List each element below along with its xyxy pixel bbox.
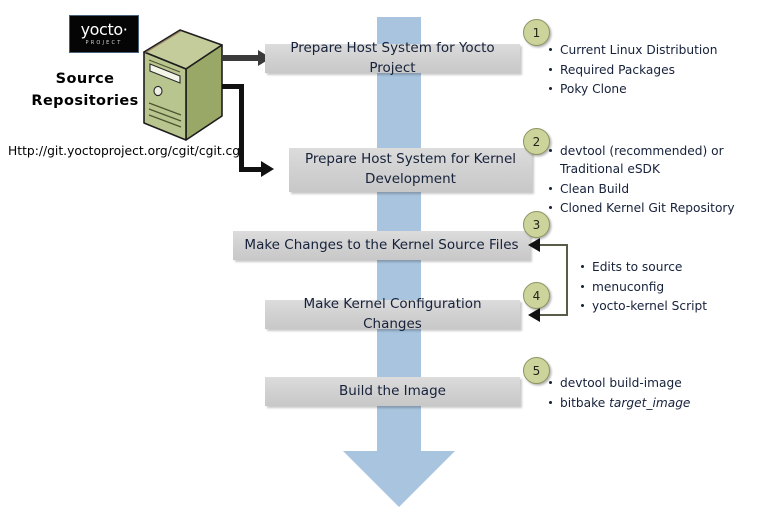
step-box-1[interactable]: Prepare Host System for Yocto Project: [265, 44, 520, 73]
steps-3-4-shared-notes: Edits to source menuconfig yocto-kernel …: [580, 258, 760, 317]
step-number-5-value: 5: [533, 364, 541, 378]
step-number-4-value: 4: [533, 289, 541, 303]
step-box-1-label: Prepare Host System for Yocto Project: [275, 39, 510, 78]
yocto-project-logo: yocto· PROJECT: [69, 15, 139, 53]
arrowhead-loopback-step4: [528, 308, 540, 322]
list-item: yocto-kernel Script: [580, 297, 760, 315]
step-number-1: 1: [523, 19, 550, 46]
loopback-bottom-horizontal: [539, 314, 567, 316]
list-item: Poky Clone: [548, 80, 763, 98]
logo-wordmark: yocto·: [81, 22, 128, 38]
step-box-4[interactable]: Make Kernel Configuration Changes: [265, 300, 520, 329]
loopback-vertical: [566, 244, 568, 316]
step-number-4: 4: [523, 282, 550, 309]
step-number-1-value: 1: [533, 26, 541, 40]
step-5-notes: devtool build-image bitbake target_image: [548, 374, 758, 413]
list-item: devtool (recommended) or Traditional eSD…: [548, 142, 758, 178]
step-1-notes: Current Linux Distribution Required Pack…: [548, 41, 763, 100]
list-item: Current Linux Distribution: [548, 41, 763, 59]
server-tower-icon: [136, 28, 226, 143]
connector-server-to-step1: [222, 55, 262, 61]
list-item: Cloned Kernel Git Repository: [548, 199, 758, 217]
logo-subtitle: PROJECT: [85, 40, 122, 46]
step-2-notes: devtool (recommended) or Traditional eSD…: [548, 142, 758, 219]
list-item: devtool build-image: [548, 374, 758, 392]
source-repository-url: Http://git.yoctoproject.org/cgit/cgit.cg…: [8, 144, 244, 158]
target-image-italic: target_image: [609, 396, 690, 410]
step-box-3[interactable]: Make Changes to the Kernel Source Files: [233, 231, 530, 260]
list-item: Edits to source: [580, 258, 760, 276]
arrowhead-loopback-step3: [528, 238, 540, 252]
diagram-canvas: yocto· PROJECT Source Repositories Http:…: [0, 0, 769, 517]
step-number-5: 5: [523, 357, 550, 384]
source-label-line-2: Repositories: [30, 90, 140, 112]
step-number-2-value: 2: [533, 135, 541, 149]
step-box-3-label: Make Changes to the Kernel Source Files: [244, 236, 518, 256]
step-number-3-value: 3: [533, 218, 541, 232]
connector-server-to-step2-vertical: [239, 84, 244, 172]
list-item: bitbake target_image: [548, 394, 758, 412]
list-item: Required Packages: [548, 61, 763, 79]
step-box-2-label: Prepare Host System for Kernel Developme…: [299, 150, 522, 189]
list-item: menuconfig: [580, 278, 760, 296]
step-box-2[interactable]: Prepare Host System for Kernel Developme…: [289, 148, 532, 192]
source-repositories-label: Source Repositories: [30, 68, 140, 113]
step-box-4-label: Make Kernel Configuration Changes: [275, 295, 510, 334]
arrowhead-step2: [261, 161, 274, 177]
step-number-3: 3: [523, 211, 550, 238]
list-item: Clean Build: [548, 180, 758, 198]
loopback-top-horizontal: [539, 244, 567, 246]
flow-arrow-head: [343, 451, 455, 507]
step-number-2: 2: [523, 128, 550, 155]
step-box-5-label: Build the Image: [339, 382, 446, 402]
source-label-line-1: Source: [30, 68, 140, 90]
step-box-5[interactable]: Build the Image: [265, 377, 520, 406]
